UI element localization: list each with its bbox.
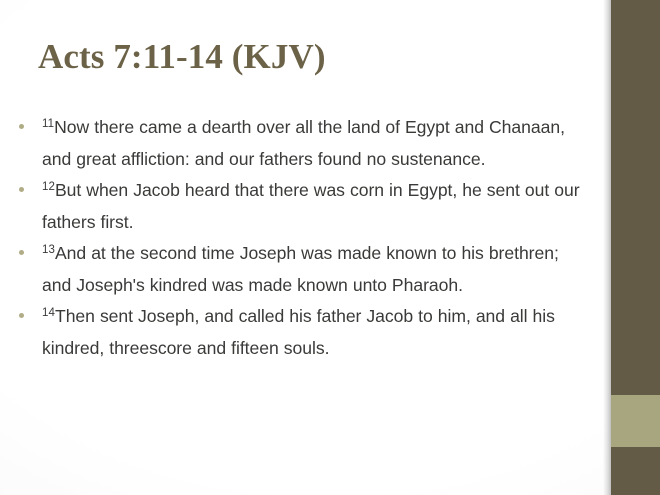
- slide-canvas: Acts 7:11-14 (KJV) 11Now there came a de…: [0, 0, 660, 495]
- verse-text: But when Jacob heard that there was corn…: [42, 180, 580, 232]
- slide-title: Acts 7:11-14 (KJV): [38, 36, 578, 78]
- verse-number: 11: [42, 118, 54, 130]
- verse-text: Now there came a dearth over all the lan…: [42, 117, 565, 169]
- bullet-dot-icon: [19, 250, 24, 255]
- right-accent-bar-light: [611, 395, 660, 447]
- bullet-dot-icon: [19, 187, 24, 192]
- bullet-item: 14Then sent Joseph, and called his fathe…: [14, 302, 589, 362]
- bullet-item: 13And at the second time Joseph was made…: [14, 239, 589, 299]
- bullet-item: 11Now there came a dearth over all the l…: [14, 113, 589, 173]
- verse-text: And at the second time Joseph was made k…: [42, 243, 559, 295]
- verse-number: 13: [42, 244, 55, 256]
- bullet-item: 12But when Jacob heard that there was co…: [14, 176, 589, 236]
- bullet-dot-icon: [19, 124, 24, 129]
- bullet-dot-icon: [19, 313, 24, 318]
- verse-number: 14: [42, 307, 55, 319]
- slide-body: 11Now there came a dearth over all the l…: [14, 113, 589, 365]
- right-edge-shadow: [603, 0, 611, 495]
- verse-number: 12: [42, 181, 55, 193]
- verse-text: Then sent Joseph, and called his father …: [42, 306, 555, 358]
